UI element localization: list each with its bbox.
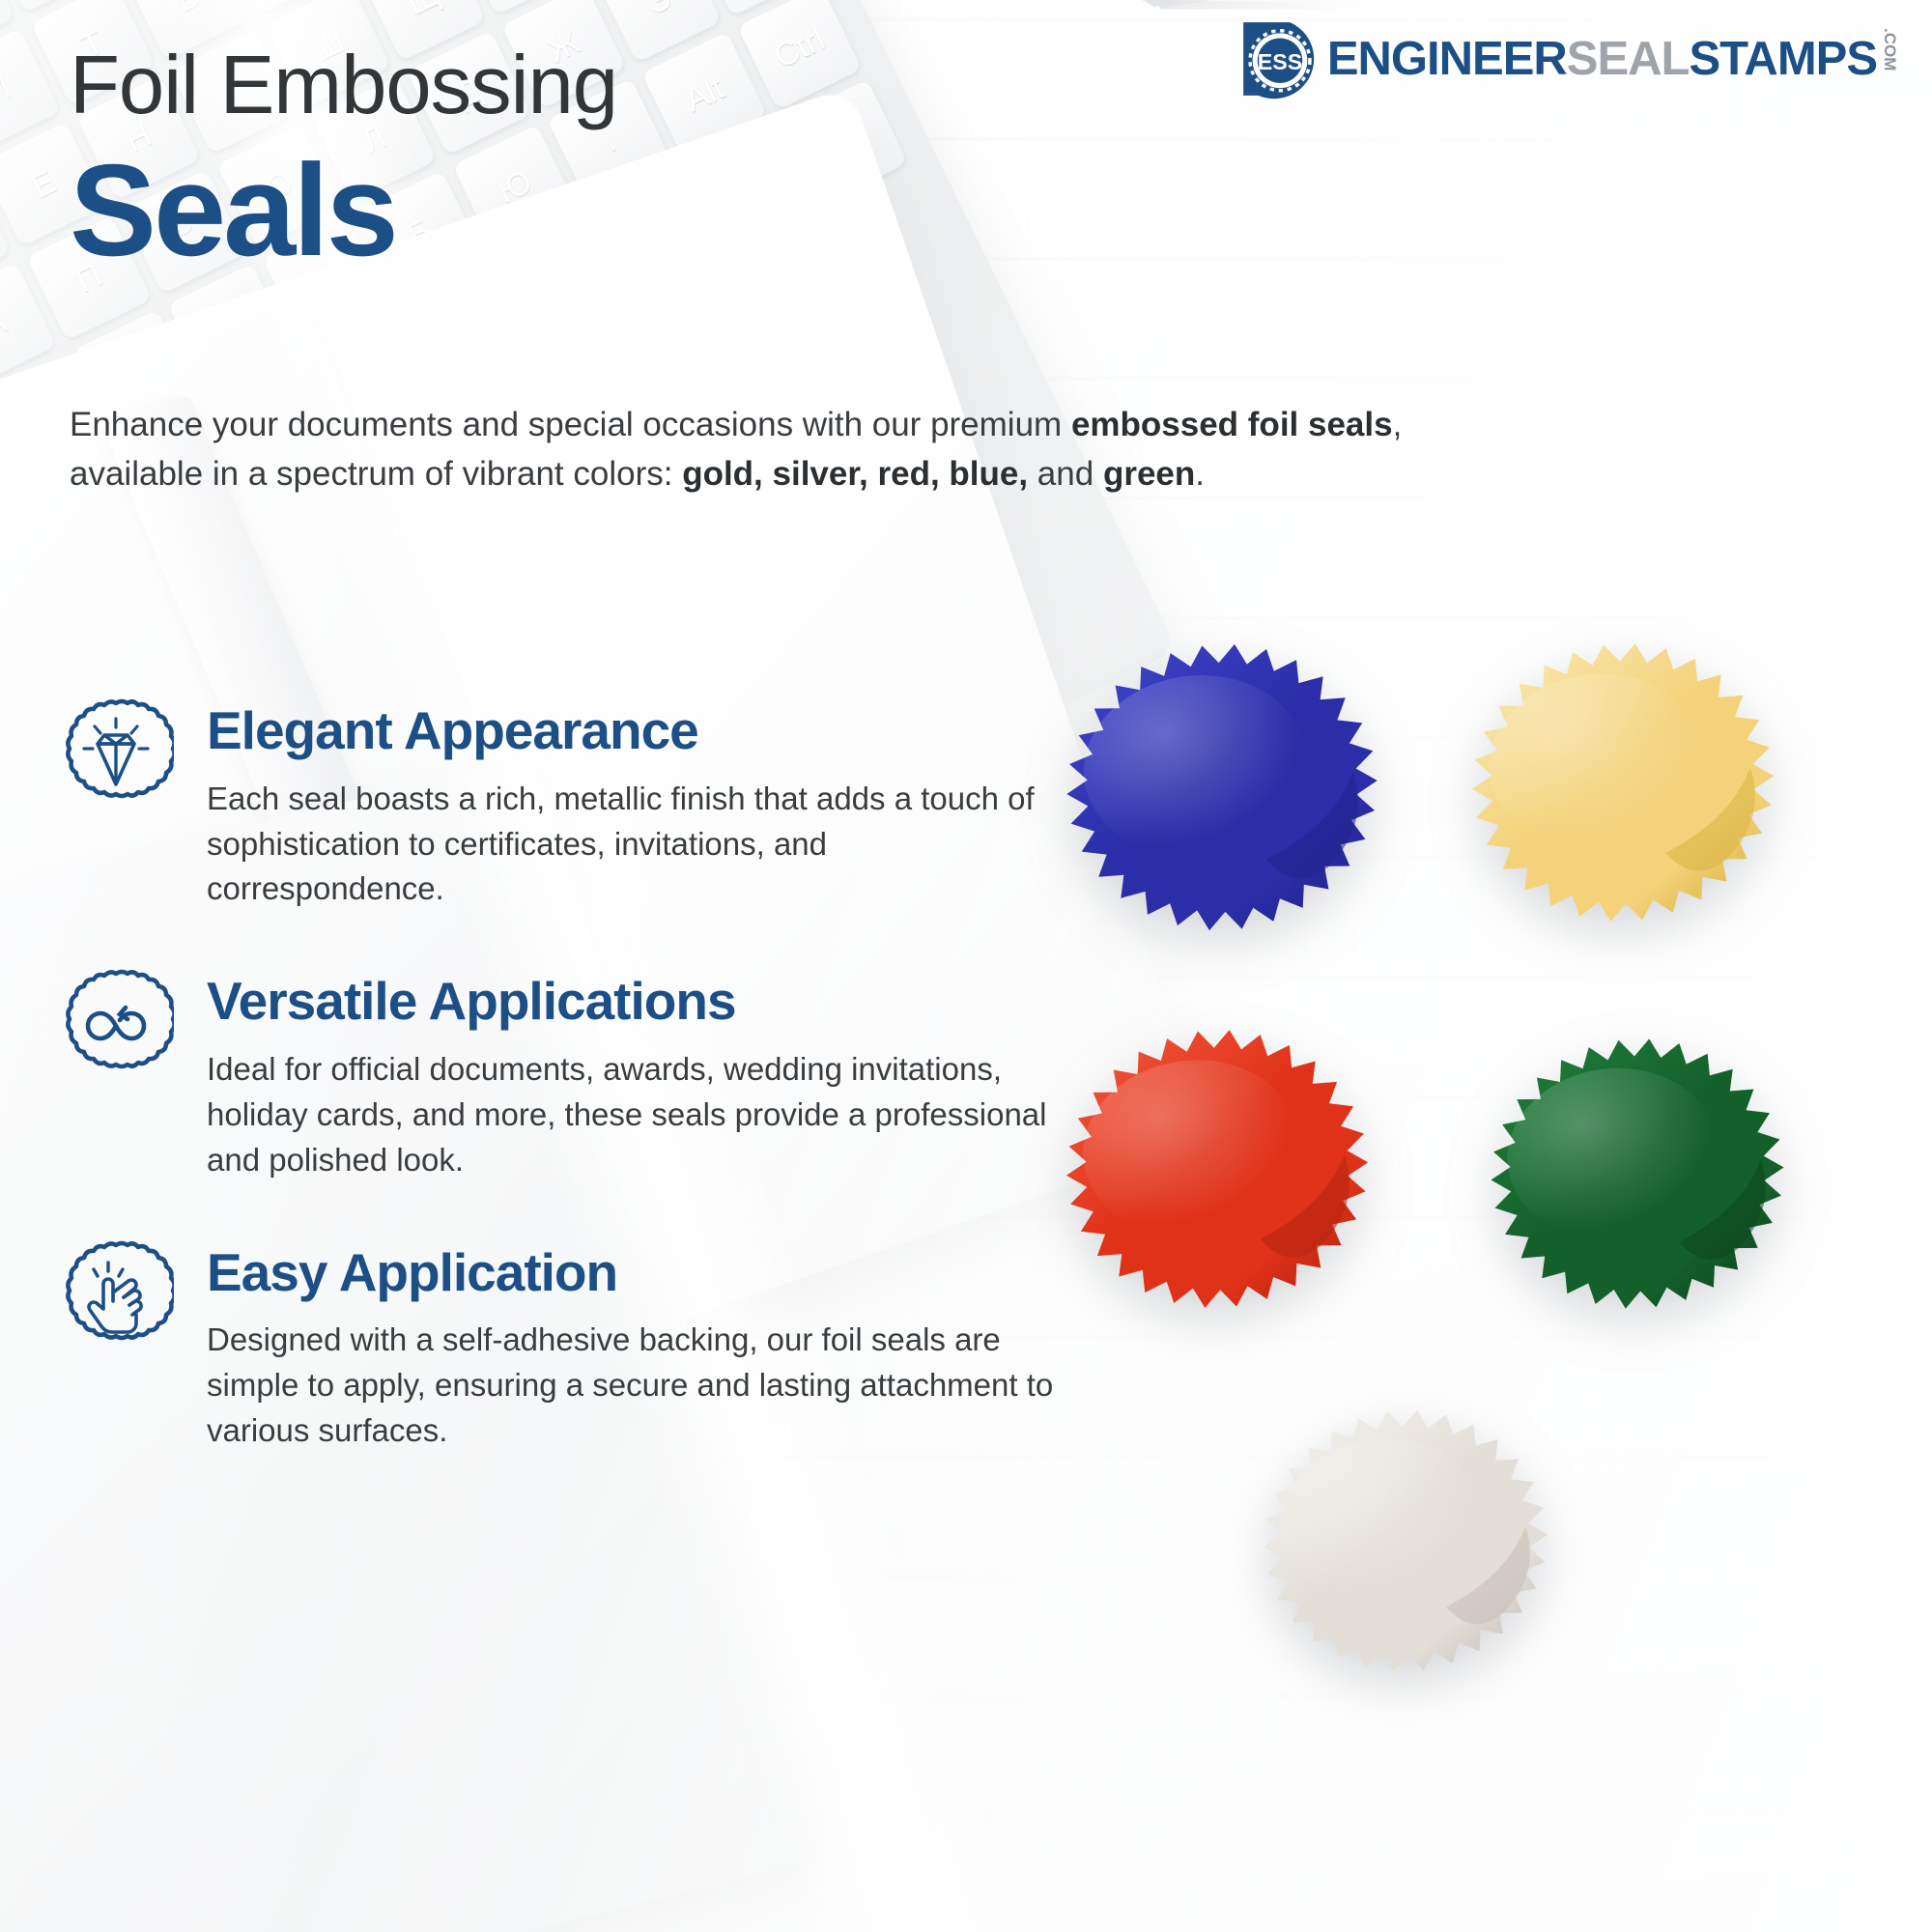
feature-item-versatile-applications: Versatile Applications Ideal for officia… (58, 964, 1082, 1182)
seal-blue[interactable] (1053, 618, 1391, 956)
feature-description: Each seal boasts a rich, metallic finish… (207, 777, 1057, 913)
brand-logo[interactable]: ESS ENGINEERSEALSTAMPS.COM (1238, 17, 1899, 100)
intro-bold-colors: gold, silver, red, blue, (682, 455, 1028, 493)
logo-word-dotcom: .COM (1880, 28, 1899, 71)
feature-body: Elegant Appearance Each seal boasts a ri… (207, 694, 1082, 912)
seal-green[interactable] (1478, 1014, 1797, 1333)
page-title-line1: Foil Embossing (70, 44, 617, 127)
seal-gold[interactable] (1459, 618, 1787, 947)
logo-word-stamps: STAMPS (1689, 32, 1877, 86)
feature-item-easy-application: Easy Application Designed with a self-ad… (58, 1236, 1082, 1454)
feature-description: Ideal for official documents, awards, we… (207, 1047, 1057, 1183)
svg-text:ESS: ESS (1258, 49, 1302, 74)
feature-title: Versatile Applications (207, 974, 1082, 1030)
feature-title: Elegant Appearance (207, 703, 1082, 759)
feature-list: Elegant Appearance Each seal boasts a ri… (58, 694, 1082, 1506)
logo-word-seal: SEAL (1567, 32, 1690, 86)
logo-word-engineer: ENGINEER (1327, 32, 1567, 86)
seal-red[interactable] (1053, 1005, 1381, 1333)
diamond-badge-icon (58, 697, 174, 813)
foil-seal-gallery (1043, 618, 1913, 1816)
intro-bold-embossed: embossed foil seals (1071, 406, 1393, 443)
feature-item-elegant-appearance: Elegant Appearance Each seal boasts a ri… (58, 694, 1082, 912)
feature-body: Easy Application Designed with a self-ad… (207, 1236, 1082, 1454)
feature-title: Easy Application (207, 1245, 1082, 1301)
infographic-page: ESS ENGINEERSEALSTAMPS.COM Foil Embossin… (0, 0, 1932, 1932)
intro-bold-green: green (1103, 455, 1195, 493)
infinity-badge-icon (58, 968, 174, 1084)
tap-hand-badge-icon (58, 1239, 174, 1355)
intro-text-4: . (1195, 455, 1205, 493)
page-title-line2: Seals (70, 145, 396, 275)
feature-body: Versatile Applications Ideal for officia… (207, 964, 1082, 1182)
intro-text-3: and (1028, 455, 1103, 493)
brand-wordmark: ENGINEERSEALSTAMPS.COM (1327, 32, 1899, 86)
seal-silver[interactable] (1251, 1386, 1560, 1695)
feature-description: Designed with a self-adhesive backing, o… (207, 1318, 1057, 1454)
intro-text-1: Enhance your documents and special occas… (70, 406, 1071, 443)
intro-paragraph: Enhance your documents and special occas… (70, 401, 1403, 499)
gear-seal-icon: ESS (1238, 17, 1321, 100)
